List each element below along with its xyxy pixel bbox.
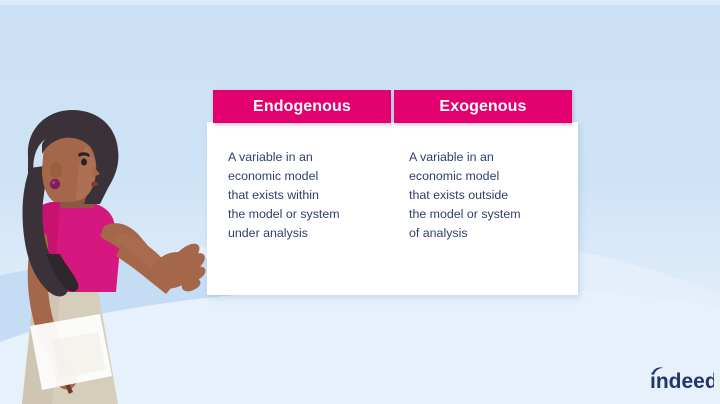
card-endogenous: Endogenous A variable in an economic mod… (213, 90, 391, 295)
comparison-cards: Endogenous A variable in an economic mod… (207, 90, 578, 295)
card-exogenous-header: Exogenous (394, 90, 572, 123)
card-endogenous-title: Endogenous (253, 98, 351, 116)
card-exogenous-title: Exogenous (439, 98, 526, 116)
woman-presenting-illustration (0, 108, 230, 404)
card-endogenous-header: Endogenous (213, 90, 391, 123)
card-endogenous-body: A variable in an economic model that exi… (228, 148, 388, 243)
background-top-edge (0, 0, 720, 5)
card-exogenous: Exogenous A variable in an economic mode… (394, 90, 572, 295)
card-exogenous-body: A variable in an economic model that exi… (409, 148, 569, 243)
indeed-wordmark: indeed (650, 370, 714, 393)
slide-canvas: Endogenous A variable in an economic mod… (0, 0, 720, 404)
indeed-logo: indeed (650, 366, 714, 394)
